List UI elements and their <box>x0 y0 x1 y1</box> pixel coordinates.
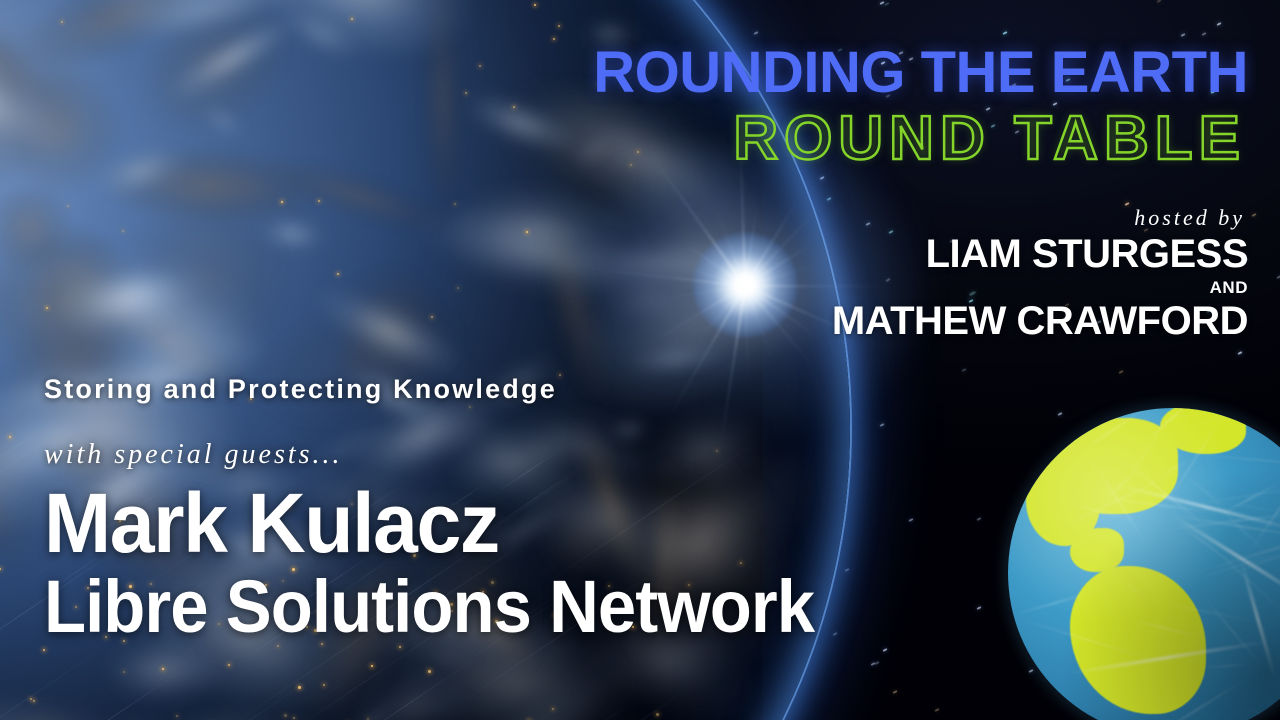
guest-organization: Libre Solutions Network <box>44 566 814 648</box>
guest-name: Mark Kulacz <box>44 478 839 568</box>
episode-block: Storing and Protecting Knowledge with sp… <box>44 372 872 648</box>
host-name-secondary: MATHEW CRAWFORD <box>832 298 1248 344</box>
host-name-primary: LIAM STURGESS <box>832 231 1248 277</box>
show-title-primary: ROUNDING THE EARTH <box>593 44 1248 102</box>
hosted-by-label: hosted by <box>832 205 1248 231</box>
show-title-secondary: ROUND TABLE <box>593 106 1248 172</box>
episode-title: Storing and Protecting Knowledge <box>44 372 872 406</box>
video-title-card: ROUNDING THE EARTH ROUND TABLE hosted by… <box>0 0 1280 720</box>
crumpled-paper-globe-icon <box>1008 408 1280 720</box>
hosts-conjunction: AND <box>832 278 1248 297</box>
show-title-block: ROUNDING THE EARTH ROUND TABLE <box>593 44 1248 172</box>
hosts-block: hosted by LIAM STURGESS AND MATHEW CRAWF… <box>832 205 1248 344</box>
special-guests-label: with special guests... <box>44 438 872 472</box>
